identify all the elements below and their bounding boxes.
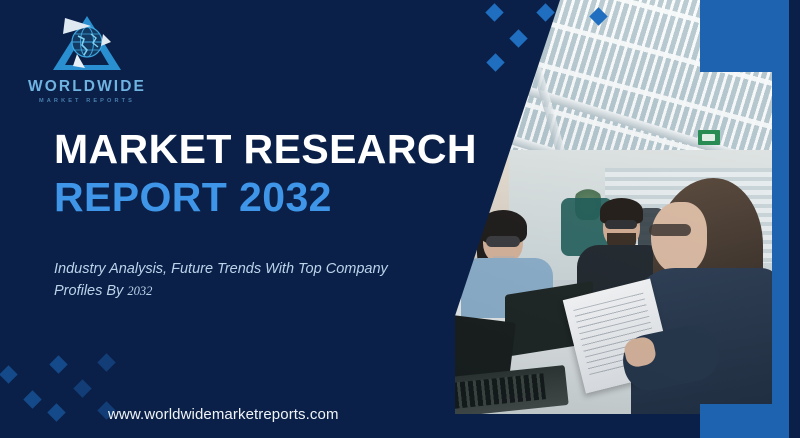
emergency-exit-sign bbox=[698, 130, 720, 145]
blue-accent-band bbox=[772, 0, 789, 438]
laptop-keys bbox=[455, 373, 546, 410]
person-middle-glasses bbox=[605, 220, 637, 229]
person-foreground-face bbox=[651, 202, 707, 274]
globe-shield-logo-icon bbox=[51, 12, 123, 74]
person-left-sunglasses bbox=[486, 236, 520, 247]
headline-year: 2032 bbox=[239, 174, 332, 220]
page-title: MARKET RESEARCH REPORT 2032 bbox=[54, 128, 494, 219]
person-foreground-glasses bbox=[649, 224, 691, 236]
right-edge-strip bbox=[789, 0, 800, 438]
brand-name: WORLDWIDE bbox=[22, 78, 152, 96]
headline-line-2: REPORT 2032 bbox=[54, 176, 494, 219]
headline-line-1: MARKET RESEARCH bbox=[54, 128, 494, 171]
brand-tagline: MARKET REPORTS bbox=[22, 98, 152, 104]
subtitle-year: 2032 bbox=[127, 284, 152, 298]
subtitle: Industry Analysis, Future Trends With To… bbox=[54, 258, 414, 303]
subtitle-text: Industry Analysis, Future Trends With To… bbox=[54, 261, 388, 299]
market-research-report-banner: WORLDWIDE MARKET REPORTS MARKET RESEARCH… bbox=[0, 0, 800, 438]
website-url[interactable]: www.worldwidemarketreports.com bbox=[108, 406, 339, 423]
brand-logo[interactable]: WORLDWIDE MARKET REPORTS bbox=[22, 12, 152, 104]
headline-report-word: REPORT bbox=[54, 174, 227, 220]
